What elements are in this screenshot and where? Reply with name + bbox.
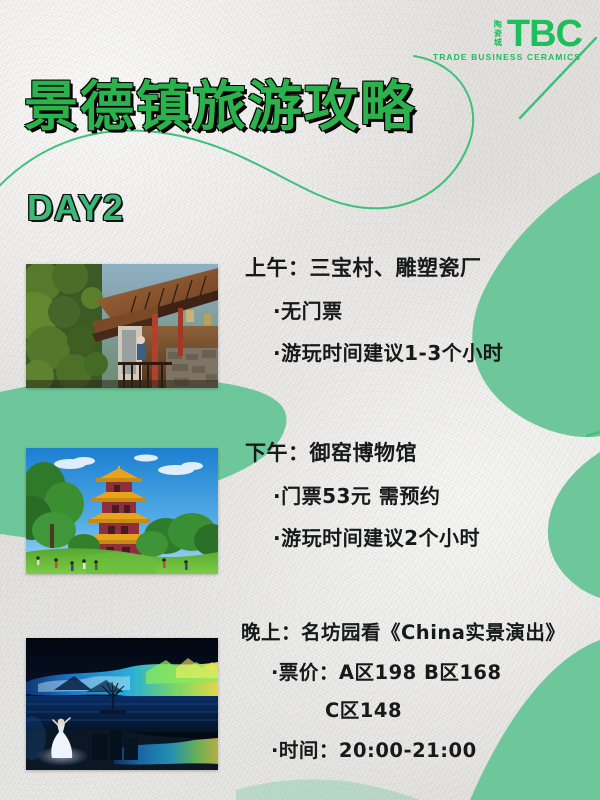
pagoda-illustration [26,448,218,574]
logo-row: 陶 瓷 城 TBC [494,18,582,50]
evening-text-block: 晚上：名坊园看《China实景演出》 ·票价：A区198 B区168 C区148… [241,623,565,760]
sanbao-village-illustration [26,264,218,388]
logo-cn-char-3: 城 [494,39,502,47]
live-show-illustration [26,638,218,770]
afternoon-heading: 下午：御窑博物馆 [245,443,480,464]
logo-wordmark: TBC [507,18,582,50]
afternoon-bullet-1: ·门票53元 需预约 [245,486,480,506]
evening-heading: 晚上：名坊园看《China实景演出》 [241,623,565,643]
poster-canvas: 陶 瓷 城 TBC TRADE BUSINESS CERAMICS 景德镇旅游攻… [0,0,600,800]
morning-bullet-2: ·游玩时间建议1-3个小时 [245,343,503,363]
china-live-show-photo [26,638,218,770]
logo-chinese-chars: 陶 瓷 城 [494,21,502,47]
logo-tagline: TRADE BUSINESS CERAMICS [433,52,581,62]
evening-bullet-1: ·票价：A区198 B区168 [241,663,565,683]
afternoon-bullet-2: ·游玩时间建议2个小时 [245,528,480,548]
evening-bullet-3: ·时间：20:00-21:00 [241,741,565,761]
sanbao-village-photo [26,264,218,388]
imperial-kiln-pagoda-photo [26,448,218,574]
day-label: DAY2 [27,190,124,226]
page-title: 景德镇旅游攻略 [24,80,416,134]
morning-text-block: 上午：三宝村、雕塑瓷厂 ·无门票 ·游玩时间建议1-3个小时 [245,258,503,363]
logo-cn-char-1: 陶 [494,21,502,29]
logo-cn-char-2: 瓷 [494,30,502,38]
morning-bullet-1: ·无门票 [245,301,503,321]
morning-heading: 上午：三宝村、雕塑瓷厂 [245,258,503,279]
afternoon-text-block: 下午：御窑博物馆 ·门票53元 需预约 ·游玩时间建议2个小时 [245,443,480,548]
evening-bullet-2: C区148 [241,701,565,721]
tbc-logo: 陶 瓷 城 TBC TRADE BUSINESS CERAMICS [433,18,582,62]
